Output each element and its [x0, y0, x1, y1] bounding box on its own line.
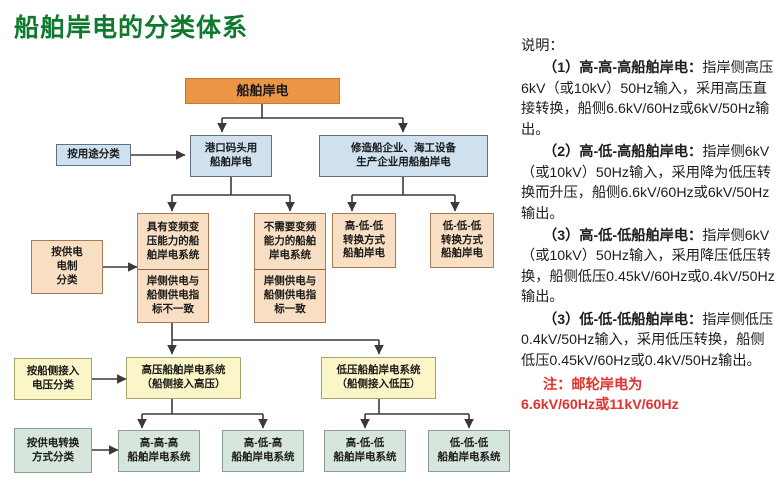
node-low-low-low-mode[interactable]: 低-低-低 转换方式 船舶岸电 [430, 213, 494, 268]
note-item-1-head: （1）高-高-高船舶岸电： [543, 60, 702, 76]
note-item-4-head: （3）低-低-低船舶岸电： [543, 312, 702, 328]
node-root[interactable]: 船舶岸电 [185, 78, 340, 104]
note-red-line-1: 注：邮轮岸电为 [543, 377, 642, 393]
node-without-vfd[interactable]: 不需要变频 能力的船舶 岸电系统 岸侧供电与 船侧供电指 标一致 [254, 213, 326, 323]
node-high-low-low-mode[interactable]: 高-低-低 转换方式 船舶岸电 [332, 213, 396, 268]
node-hlh[interactable]: 高-低-高 船舶岸电系统 [222, 430, 304, 472]
explanation-panel: 说明： （1）高-高-高船舶岸电：指岸侧高压6kV（或10kV）50Hz输入，采… [521, 36, 777, 418]
node-lll[interactable]: 低-低-低 船舶岸电系统 [428, 430, 510, 472]
node-with-vfd[interactable]: 具有变频变 压能力的船 舶岸电系统 岸侧供电与 船侧供电指 标不一致 [137, 213, 209, 323]
node-port-terminal[interactable]: 港口码头用 船舶岸电 [190, 135, 272, 177]
note-item-3-head: （3）高-低-低船舶岸电： [543, 228, 702, 244]
criteria-label-by-use[interactable]: 按用途分类 [56, 144, 131, 166]
node-with-vfd-top: 具有变频变 压能力的船 舶岸电系统 [138, 214, 208, 270]
node-shipyard-offshore[interactable]: 修造船企业、海工设备 生产企业用船舶岸电 [319, 135, 488, 177]
slide-canvas: 船舶岸电的分类体系 [0, 0, 781, 504]
criteria-label-by-power-system[interactable]: 按供电 电制 分类 [31, 240, 103, 294]
criteria-label-by-conversion[interactable]: 按供电转换 方式分类 [14, 428, 92, 473]
criteria-label-by-ship-voltage[interactable]: 按船侧接入 电压分类 [14, 358, 92, 400]
node-with-vfd-bottom: 岸侧供电与 船侧供电指 标不一致 [138, 270, 208, 322]
note-red-warning: 注：邮轮岸电为6.6kV/60Hz或11kV/60Hz [521, 375, 777, 416]
node-without-vfd-bottom: 岸侧供电与 船侧供电指 标一致 [255, 270, 325, 322]
node-hv-system[interactable]: 高压船舶岸电系统 （船侧接入高压） [126, 357, 241, 399]
note-item-2: （2）高-低-高船舶岸电：指岸侧6kV（或10kV）50Hz输入，采用降为低压转… [521, 142, 777, 224]
node-hll[interactable]: 高-低-低 船舶岸电系统 [324, 430, 406, 472]
note-item-1: （1）高-高-高船舶岸电：指岸侧高压6kV（或10kV）50Hz输入，采用高压直… [521, 58, 777, 140]
flowchart: 船舶岸电 按用途分类 按供电 电制 分类 按船侧接入 电压分类 按供电转换 方式… [0, 0, 515, 504]
node-without-vfd-top: 不需要变频 能力的船舶 岸电系统 [255, 214, 325, 270]
note-red-line-2: 6.6kV/60Hz或11kV/60Hz [521, 395, 777, 415]
note-item-3: （3）高-低-低船舶岸电：指岸侧6kV（或10kV）50Hz输入，采用降压低压转… [521, 226, 777, 308]
note-item-4: （3）低-低-低船舶岸电：指岸侧低压0.4kV/50Hz输入，采用低压转换，船侧… [521, 310, 777, 371]
note-item-2-head: （2）高-低-高船舶岸电： [543, 144, 702, 160]
notes-lead: 说明： [521, 36, 777, 56]
node-hhh[interactable]: 高-高-高 船舶岸电系统 [118, 430, 200, 472]
node-lv-system[interactable]: 低压船舶岸电系统 （船侧接入低压） [321, 357, 436, 399]
